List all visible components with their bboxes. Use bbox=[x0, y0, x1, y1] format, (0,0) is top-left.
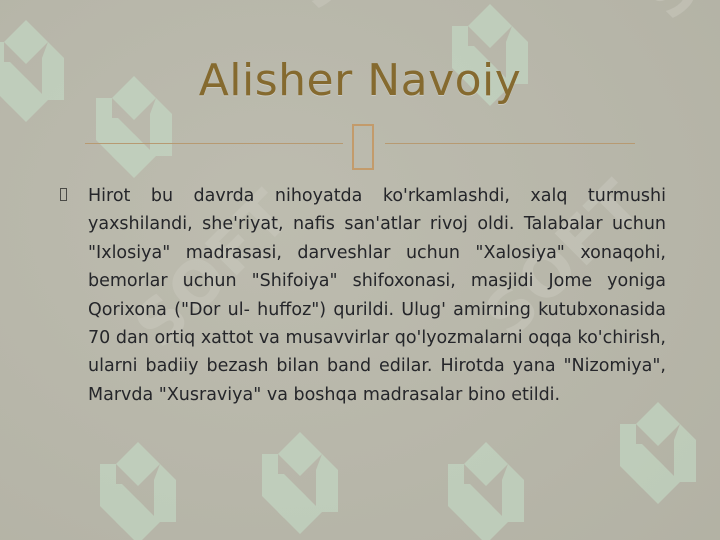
slide-title: Alisher Navoiy bbox=[0, 58, 720, 104]
slide-canvas: SOFT SOFT SOFT SOFT bbox=[0, 0, 720, 540]
bullet-list-item: Hirot bu davrda nihoyatda ko'rkamlashdi,… bbox=[60, 182, 666, 409]
slide-content: Alisher Navoiy Hirot bu davrda nihoyatda… bbox=[0, 0, 720, 540]
body-block: Hirot bu davrda nihoyatda ko'rkamlashdi,… bbox=[60, 182, 666, 409]
divider-line-right bbox=[385, 143, 635, 144]
body-paragraph: Hirot bu davrda nihoyatda ko'rkamlashdi,… bbox=[88, 182, 666, 409]
divider-line-left bbox=[85, 143, 343, 144]
bullet-marker-icon bbox=[60, 188, 67, 201]
divider-ornament-icon bbox=[352, 124, 374, 170]
